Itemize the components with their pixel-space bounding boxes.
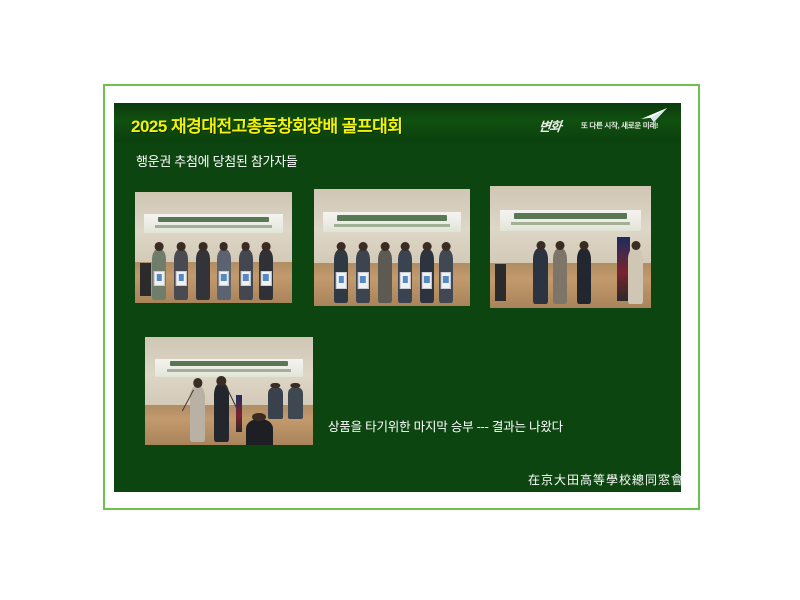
photo-winners-group-1	[135, 192, 292, 303]
scene-person	[152, 249, 166, 300]
scene-person-head	[270, 383, 279, 389]
scene-prize-box	[154, 271, 164, 286]
banner-sub-block	[155, 225, 271, 228]
scene-person	[398, 249, 412, 303]
scene-prize-box	[218, 271, 228, 286]
scene-person-head	[631, 241, 640, 251]
scene-person-head	[441, 242, 450, 251]
scene-person	[420, 249, 434, 303]
scene-person-head	[252, 413, 266, 421]
scene-person-head	[580, 241, 589, 251]
banner-sub-block	[511, 222, 630, 225]
paper-plane-icon	[641, 108, 667, 123]
scene-person	[356, 249, 370, 303]
slide-root: 2025 재경대전고총동창회장배 골프대회 변화 또 다른 시작, 새로운 미래…	[0, 0, 800, 600]
banner-sub-block	[334, 224, 449, 227]
scene-person	[334, 249, 348, 303]
scene-person-head	[291, 383, 300, 389]
scene-person	[190, 386, 205, 442]
scene-person-head	[177, 242, 186, 251]
scene-speaker	[495, 264, 506, 301]
scene-person	[378, 249, 392, 303]
scene-person	[259, 249, 273, 300]
scene-banner	[155, 359, 303, 377]
scene-banner	[500, 210, 642, 231]
scene-prize-box	[422, 272, 432, 288]
photo-scene	[145, 337, 313, 445]
scene-prize-box	[400, 272, 410, 288]
banner-title-block	[158, 217, 269, 222]
scene-person	[196, 249, 210, 300]
scene-person-head	[359, 242, 368, 251]
photo-final-match	[145, 337, 313, 445]
photo-scene	[135, 192, 292, 303]
scene-prize-box	[441, 272, 451, 288]
scene-person-head	[241, 242, 250, 251]
scene-person-head	[262, 242, 271, 251]
photo-winners-group-2	[314, 189, 470, 306]
scene-prize-box	[358, 272, 368, 288]
scene-speaker	[140, 263, 151, 296]
scene-person-head	[536, 241, 545, 251]
photo-scene	[314, 189, 470, 306]
scene-person	[439, 249, 453, 303]
scene-person-head	[219, 242, 228, 251]
scene-person	[217, 249, 231, 300]
scene-person-head	[423, 242, 432, 251]
page-title: 2025 재경대전고총동창회장배 골프대회	[131, 112, 402, 137]
scene-person	[577, 248, 591, 304]
scene-foreground-person	[246, 419, 273, 445]
scene-person-head	[155, 242, 164, 251]
scene-person	[553, 248, 567, 304]
photo-scene	[490, 186, 651, 308]
scene-banner	[323, 212, 460, 232]
final-match-caption: 상품을 타기위한 마지막 승부 --- 결과는 나왔다	[328, 416, 563, 435]
scene-person	[174, 249, 188, 300]
slide-content-panel: 2025 재경대전고총동창회장배 골프대회 변화 또 다른 시작, 새로운 미래…	[114, 103, 681, 492]
scene-person-head	[556, 241, 565, 251]
brand-script-text: 변화	[538, 116, 563, 135]
scene-person	[268, 387, 283, 419]
banner-title-block	[514, 213, 627, 219]
scene-person-head	[193, 378, 202, 388]
scene-prize-box	[261, 271, 271, 286]
organization-footer: 在京大田高等學校總同窓會	[528, 471, 681, 488]
lucky-draw-caption: 행운권 추첨에 당첨된 참가자들	[136, 151, 298, 170]
scene-person-head	[401, 242, 410, 251]
slide-header-band: 2025 재경대전고총동창회장배 골프대회 변화 또 다른 시작, 새로운 미래…	[114, 103, 681, 142]
scene-person	[288, 387, 303, 419]
scene-person-head	[381, 242, 390, 251]
brand-logo: 변화 또 다른 시작, 새로운 미래!	[533, 107, 673, 139]
scene-person	[239, 249, 253, 300]
photo-award-ceremony	[490, 186, 651, 308]
scene-prize-box	[336, 272, 346, 288]
scene-banner	[144, 214, 282, 233]
banner-title-block	[170, 361, 288, 366]
scene-prize-box	[240, 271, 250, 286]
scene-person-head	[337, 242, 346, 251]
scene-flag	[236, 395, 243, 432]
scene-person	[628, 248, 642, 304]
scene-person-head	[199, 242, 208, 251]
scene-person	[533, 248, 547, 304]
scene-person	[214, 383, 229, 441]
banner-sub-block	[167, 369, 291, 372]
banner-title-block	[337, 215, 447, 221]
scene-prize-box	[176, 271, 186, 286]
